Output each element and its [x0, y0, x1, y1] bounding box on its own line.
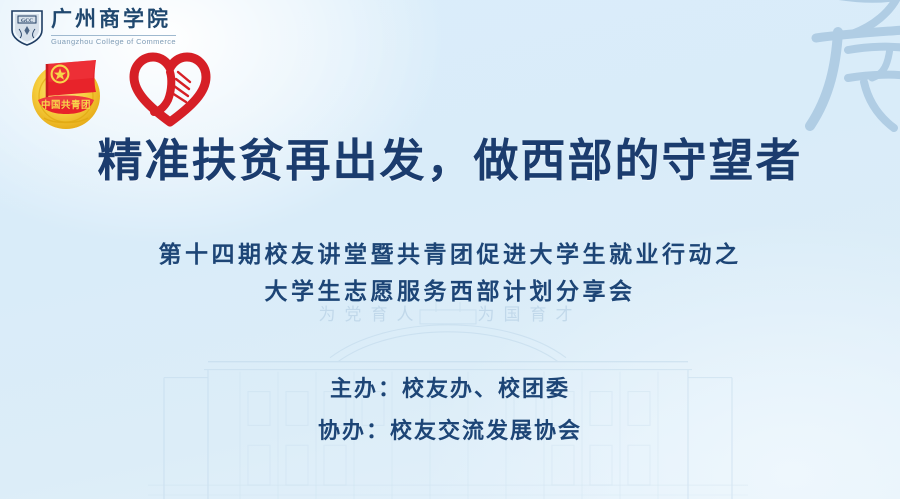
university-name-en: Guangzhou College of Commerce — [51, 37, 176, 46]
organizer-co-host: 协办：校友交流发展协会 — [0, 410, 900, 452]
poster-canvas: 为党育人 为国育才 GCC 广州商学院 Guangzhou Co — [0, 0, 900, 499]
university-name-block: 广州商学院 Guangzhou College of Commerce — [51, 8, 176, 45]
university-logo: GCC 广州商学院 Guangzhou College of Commerce — [10, 8, 176, 46]
communist-youth-league-emblem-icon: 中国共青团 — [24, 48, 110, 132]
calligraphy-brush-character-icon — [786, 0, 900, 136]
organizer-block: 主办：校友办、校团委 协办：校友交流发展协会 — [0, 368, 900, 452]
subtitle-line-1: 第十四期校友讲堂暨共青团促进大学生就业行动之 — [0, 236, 900, 273]
emblem-row: 中国共青团 — [24, 48, 212, 132]
organizer-host: 主办：校友办、校团委 — [0, 368, 900, 410]
university-crest-icon: GCC — [10, 8, 44, 46]
volunteer-heart-hand-icon — [128, 50, 212, 130]
main-title: 精准扶贫再出发，做西部的守望者 — [0, 133, 900, 189]
svg-text:GCC: GCC — [21, 18, 33, 24]
svg-text:中国共青团: 中国共青团 — [41, 99, 91, 110]
university-name-cn: 广州商学院 — [51, 8, 176, 32]
logo-divider — [51, 35, 176, 36]
subtitle-block: 第十四期校友讲堂暨共青团促进大学生就业行动之 大学生志愿服务西部计划分享会 — [0, 236, 900, 311]
subtitle-line-2: 大学生志愿服务西部计划分享会 — [0, 273, 900, 310]
